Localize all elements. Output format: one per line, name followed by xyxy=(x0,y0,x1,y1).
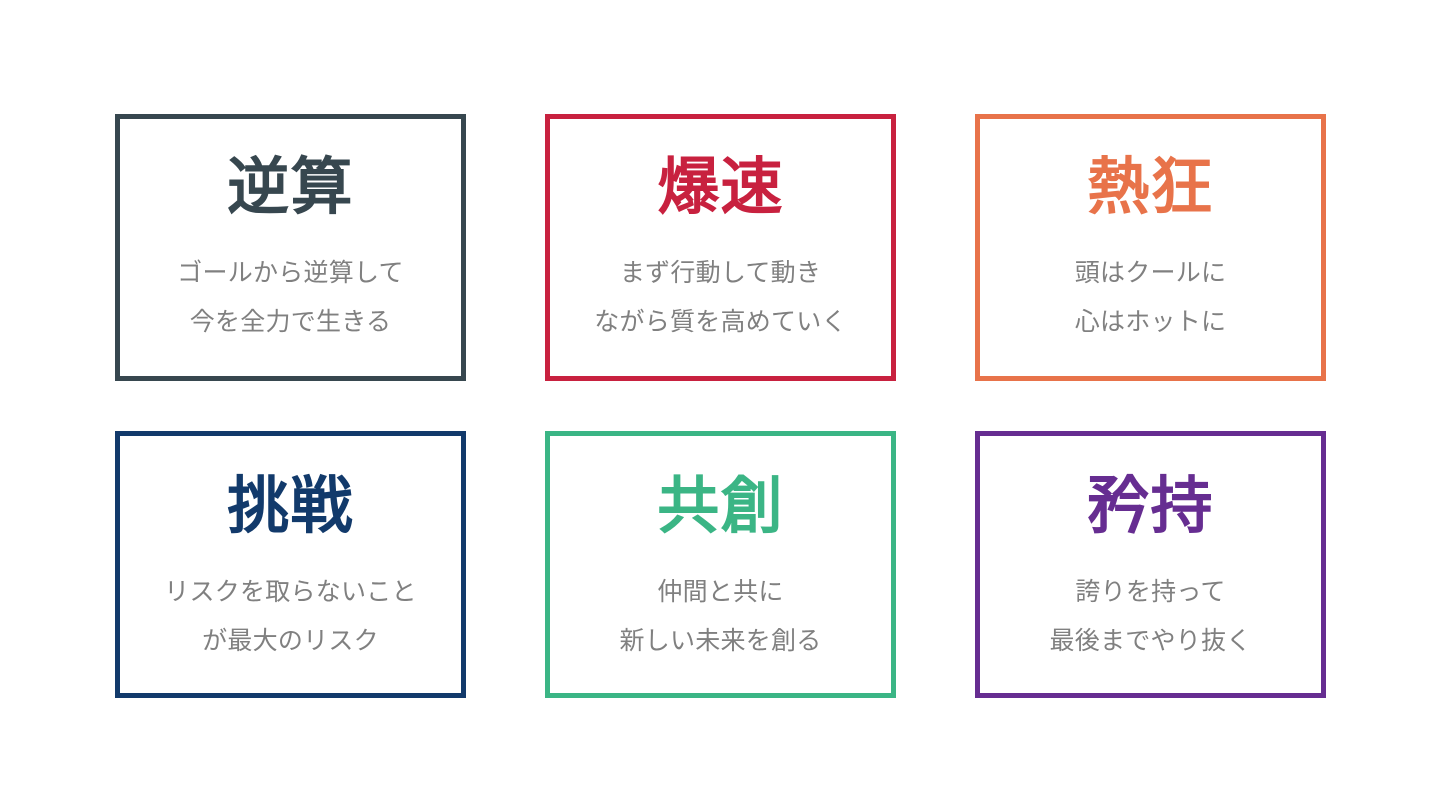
value-card-subtitle-line-2: 新しい未来を創る xyxy=(619,617,821,666)
value-card-subtitle: 誇りを持って 最後までやり抜く xyxy=(1049,568,1251,666)
value-cards-board: 逆算 ゴールから逆算して 今を全力で生きる 爆速 まず行動して動き ながら質を高… xyxy=(0,0,1440,810)
value-cards-grid: 逆算 ゴールから逆算して 今を全力で生きる 爆速 まず行動して動き ながら質を高… xyxy=(115,114,1325,698)
value-card-subtitle-line-1: まず行動して動き xyxy=(594,249,847,298)
value-card-subtitle-line-2: 心はホットに xyxy=(1075,298,1227,347)
value-card-title: 共創 xyxy=(657,476,783,538)
value-card-title: 矜持 xyxy=(1087,476,1213,538)
value-card-title: 挑戦 xyxy=(227,476,353,538)
value-card-subtitle: ゴールから逆算して 今を全力で生きる xyxy=(177,249,404,347)
value-card-title: 爆速 xyxy=(657,157,783,219)
value-card-title: 熱狂 xyxy=(1087,157,1213,219)
value-card-subtitle: まず行動して動き ながら質を高めていく xyxy=(594,249,847,347)
value-card-kyouji[interactable]: 矜持 誇りを持って 最後までやり抜く xyxy=(975,431,1326,698)
value-card-subtitle: 仲間と共に 新しい未来を創る xyxy=(619,568,821,666)
value-card-title: 逆算 xyxy=(227,157,353,219)
value-card-bakusoku[interactable]: 爆速 まず行動して動き ながら質を高めていく xyxy=(545,114,896,381)
value-card-subtitle-line-2: 最後までやり抜く xyxy=(1049,617,1251,666)
value-card-subtitle: 頭はクールに 心はホットに xyxy=(1075,249,1227,347)
value-card-chousen[interactable]: 挑戦 リスクを取らないこと が最大のリスク xyxy=(115,431,466,698)
value-card-subtitle-line-2: 今を全力で生きる xyxy=(177,298,404,347)
value-card-subtitle-line-1: 仲間と共に xyxy=(619,568,821,617)
value-card-subtitle-line-2: ながら質を高めていく xyxy=(594,298,847,347)
value-card-subtitle-line-1: 誇りを持って xyxy=(1049,568,1251,617)
value-card-nekkyou[interactable]: 熱狂 頭はクールに 心はホットに xyxy=(975,114,1326,381)
value-card-gyakusan[interactable]: 逆算 ゴールから逆算して 今を全力で生きる xyxy=(115,114,466,381)
value-card-subtitle-line-1: リスクを取らないこと xyxy=(164,568,417,617)
value-card-subtitle: リスクを取らないこと が最大のリスク xyxy=(164,568,417,666)
value-card-kyousou[interactable]: 共創 仲間と共に 新しい未来を創る xyxy=(545,431,896,698)
value-card-subtitle-line-1: 頭はクールに xyxy=(1075,249,1227,298)
value-card-subtitle-line-1: ゴールから逆算して xyxy=(177,249,404,298)
value-card-subtitle-line-2: が最大のリスク xyxy=(164,617,417,666)
